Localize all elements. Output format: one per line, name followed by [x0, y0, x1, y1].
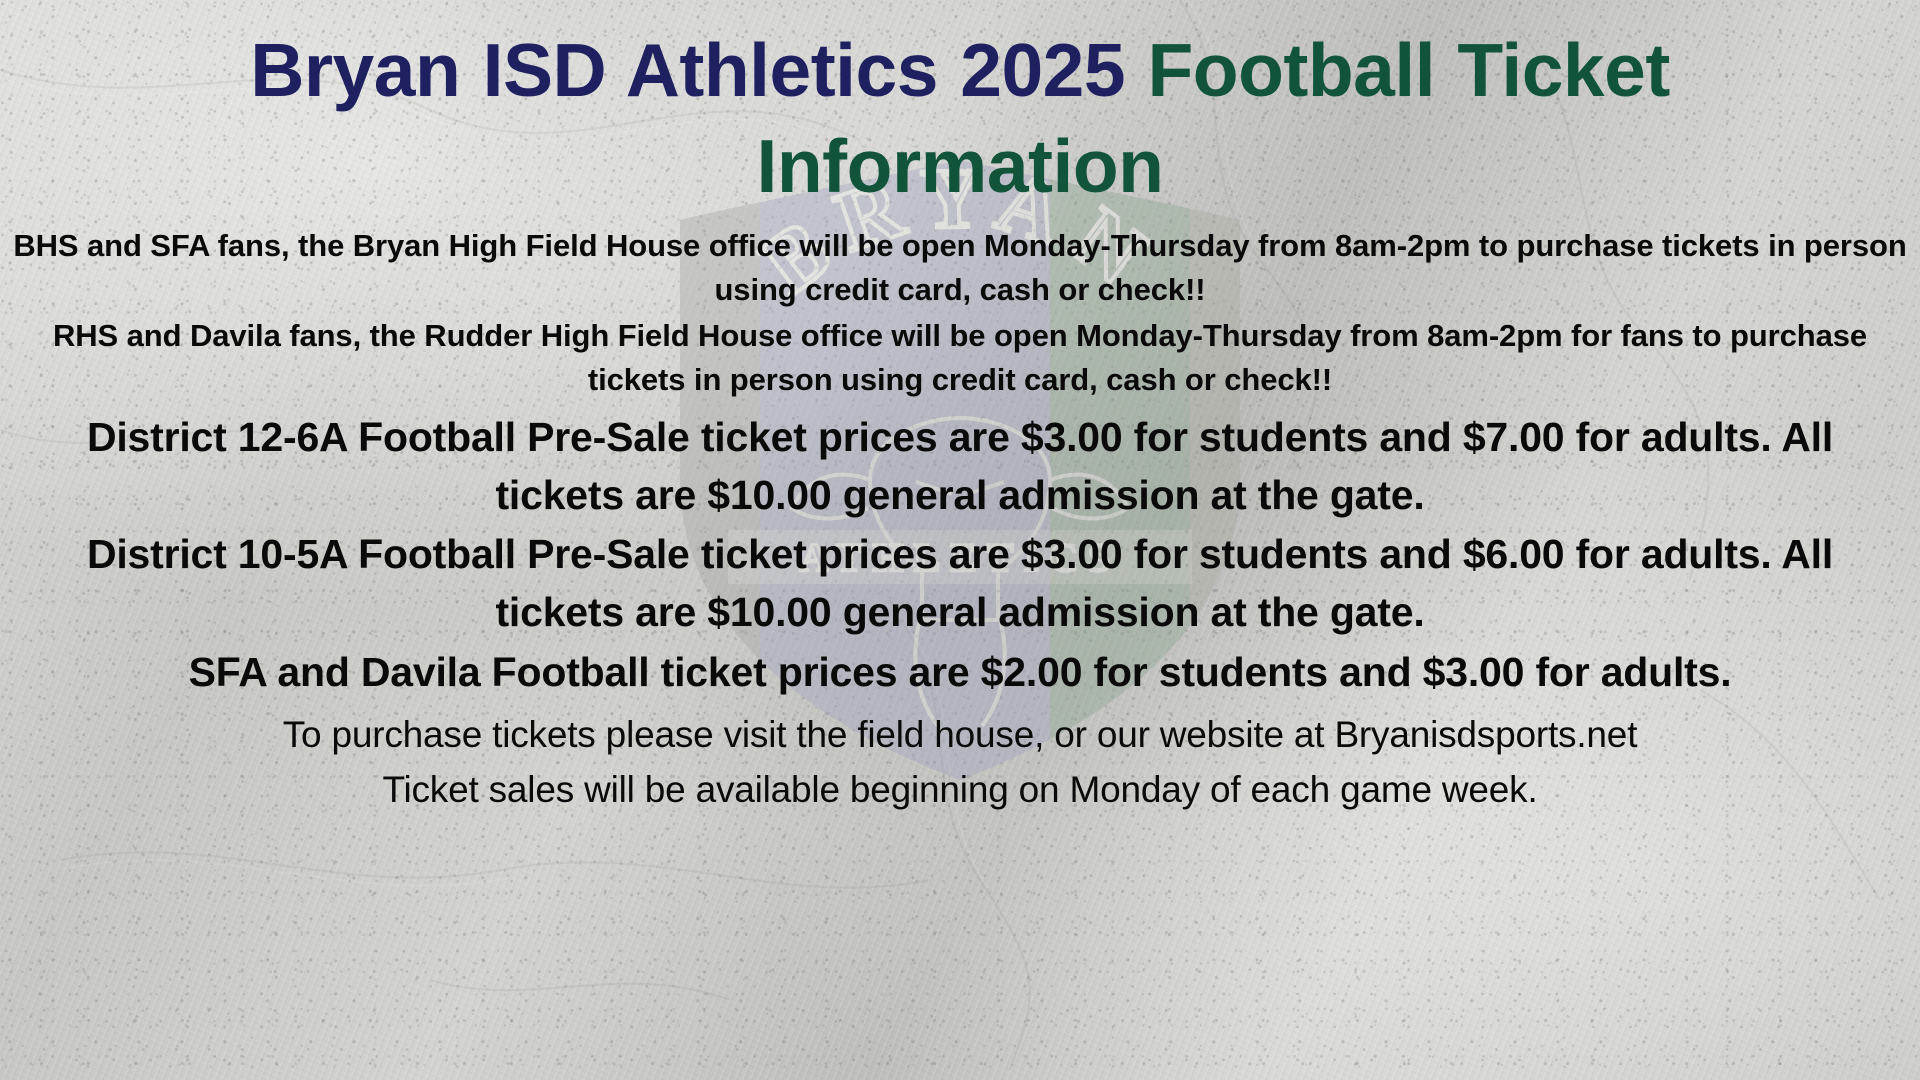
page-title: Bryan ISD Athletics 2025 Football Ticket…	[0, 0, 1920, 214]
page-title-navy: Bryan ISD Athletics 2025	[250, 28, 1125, 112]
ticket-sales-timing: Ticket sales will be available beginning…	[0, 762, 1920, 817]
rhs-davila-office-hours: RHS and Davila fans, the Rudder High Fie…	[0, 312, 1920, 402]
purchase-instructions: To purchase tickets please visit the fie…	[0, 701, 1920, 762]
bhs-sfa-office-hours: BHS and SFA fans, the Bryan High Field H…	[0, 214, 1920, 312]
district-12-6a-prices: District 12-6A Football Pre-Sale ticket …	[0, 402, 1920, 524]
ticket-information-poster: BRYAN ATHLETICS Bryan ISD Athletics 2025…	[0, 0, 1920, 1080]
sfa-davila-prices: SFA and Davila Football ticket prices ar…	[0, 641, 1920, 701]
district-10-5a-prices: District 10-5A Football Pre-Sale ticket …	[0, 525, 1920, 641]
poster-content: Bryan ISD Athletics 2025 Football Ticket…	[0, 0, 1920, 816]
